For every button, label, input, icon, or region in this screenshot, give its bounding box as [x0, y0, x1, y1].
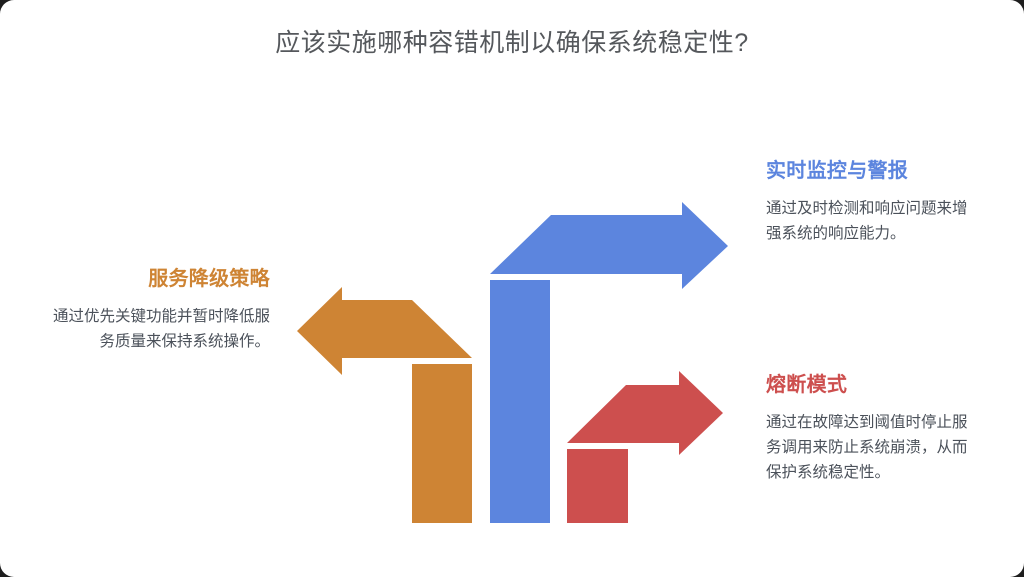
arrow-right-red: [567, 371, 723, 455]
callout-body-breaker: 通过在故障达到阈值时停止服务调用来防止系统崩溃，从而保护系统稳定性。: [766, 410, 972, 485]
callout-service-degradation: 服务降级策略 通过优先关键功能并暂时降低服务质量来保持系统操作。: [40, 266, 270, 354]
callout-circuit-breaker: 熔断模式 通过在故障达到阈值时停止服务调用来防止系统崩溃，从而保护系统稳定性。: [766, 372, 972, 485]
arrow-right-blue: [490, 202, 728, 289]
slide-canvas: 应该实施哪种容错机制以确保系统稳定性? 服务降级策略 通过优先关键功能并暂时降低…: [0, 0, 1024, 577]
callout-body-monitoring: 通过及时检测和响应问题来增强系统的响应能力。: [766, 196, 972, 246]
callout-realtime-monitoring: 实时监控与警报 通过及时检测和响应问题来增强系统的响应能力。: [766, 158, 972, 246]
callout-heading-degradation: 服务降级策略: [40, 266, 270, 292]
bar-blue: [490, 280, 550, 523]
callout-heading-breaker: 熔断模式: [766, 372, 972, 398]
callout-heading-monitoring: 实时监控与警报: [766, 158, 972, 184]
arrow-left-orange: [297, 287, 472, 375]
bar-red: [567, 449, 628, 523]
arrow-group-orange: [297, 287, 472, 523]
arrow-group-red: [567, 371, 723, 523]
callout-body-degradation: 通过优先关键功能并暂时降低服务质量来保持系统操作。: [40, 304, 270, 354]
bar-orange: [412, 364, 472, 523]
